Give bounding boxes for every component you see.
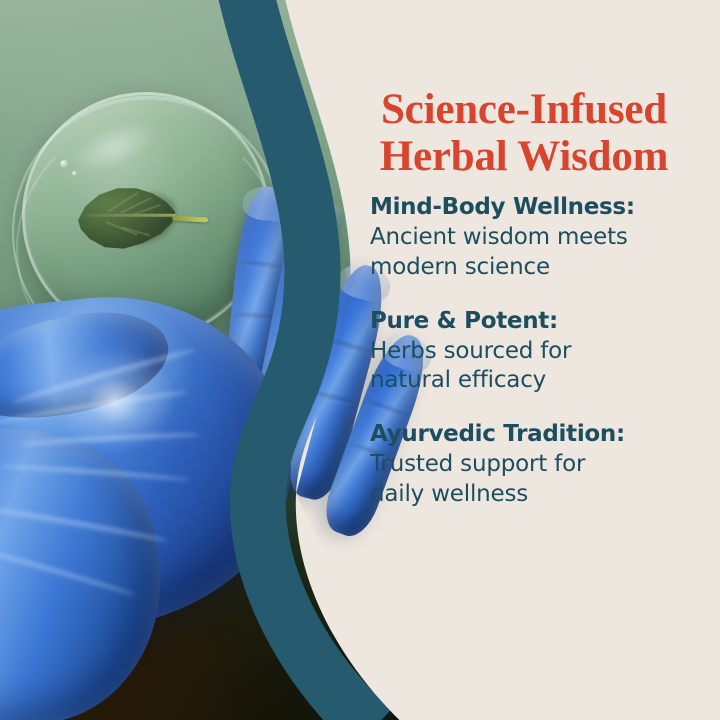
promo-graphic: Science-Infused Herbal Wisdom Mind-Body …: [0, 0, 720, 720]
benefit-body-line-1: Ancient wisdom meets: [370, 223, 716, 253]
benefit-item-ayurvedic-tradition: Ayurvedic Tradition: Trusted support for…: [370, 420, 716, 510]
benefit-body: Trusted support for daily wellness: [370, 450, 716, 510]
benefit-body-line-1: Herbs sourced for: [370, 337, 716, 367]
benefit-body: Herbs sourced for natural efficacy: [370, 337, 716, 397]
benefit-list: Mind-Body Wellness: Ancient wisdom meets…: [370, 193, 716, 510]
page-title-line-1: Science-Infused: [336, 86, 712, 133]
benefit-body-line-2: daily wellness: [370, 480, 716, 510]
benefit-item-pure-and-potent: Pure & Potent: Herbs sourced for natural…: [370, 307, 716, 397]
benefit-title: Mind-Body Wellness:: [370, 193, 716, 223]
benefit-body-line-2: natural efficacy: [370, 366, 716, 396]
benefit-title: Ayurvedic Tradition:: [370, 420, 716, 450]
benefit-body-line-1: Trusted support for: [370, 450, 716, 480]
page-title: Science-Infused Herbal Wisdom: [336, 86, 712, 181]
benefit-body: Ancient wisdom meets modern science: [370, 223, 716, 283]
page-title-line-2: Herbal Wisdom: [336, 133, 712, 180]
benefit-title: Pure & Potent:: [370, 307, 716, 337]
text-panel: Science-Infused Herbal Wisdom Mind-Body …: [336, 0, 720, 720]
benefit-item-mind-body-wellness: Mind-Body Wellness: Ancient wisdom meets…: [370, 193, 716, 283]
benefit-body-line-2: modern science: [370, 253, 716, 283]
